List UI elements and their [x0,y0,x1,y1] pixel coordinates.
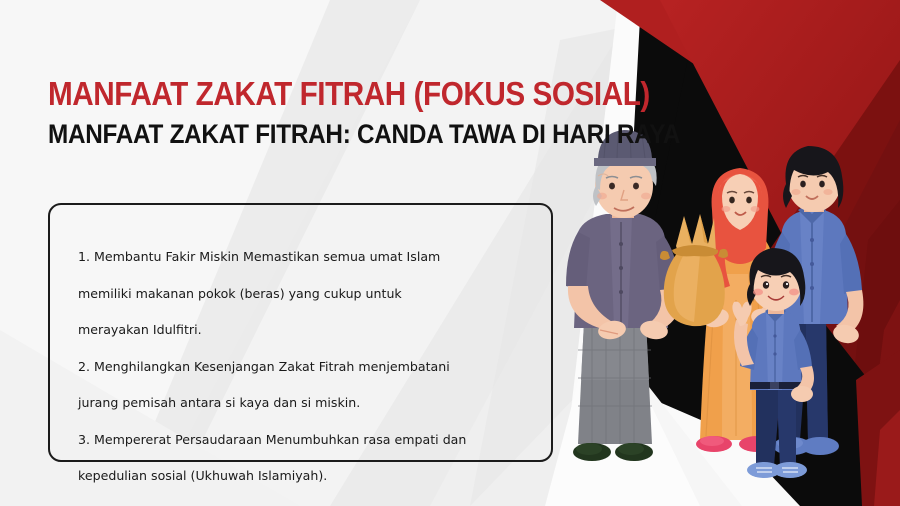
body-line: merayakan Idulfitri. [78,312,530,349]
body-line: 2. Menghilangkan Kesenjangan Zakat Fitra… [78,349,530,386]
page-title-red: MANFAAT ZAKAT FITRAH (FOKUS SOSIAL) [48,76,650,112]
body-line: 3. Mempererat Persaudaraan Menumbuhkan r… [78,422,530,459]
benefits-text-card: 1. Membantu Fakir Miskin Memastikan semu… [48,203,553,462]
body-line: memiliki makanan pokok (beras) yang cuku… [78,276,530,313]
slide-content: MANFAAT ZAKAT FITRAH (FOKUS SOSIAL) MANF… [0,0,900,506]
slide-canvas: MANFAAT ZAKAT FITRAH (FOKUS SOSIAL) MANF… [0,0,900,506]
body-line: kepedulian sosial (Ukhuwah Islamiyah). [78,458,530,495]
body-line: jurang pemisah antara si kaya dan si mis… [78,385,530,422]
page-subtitle-black: MANFAAT ZAKAT FITRAH: CANDA TAWA DI HARI… [48,119,680,149]
body-line: 1. Membantu Fakir Miskin Memastikan semu… [78,239,530,276]
benefits-text-body: 1. Membantu Fakir Miskin Memastikan semu… [78,239,530,495]
